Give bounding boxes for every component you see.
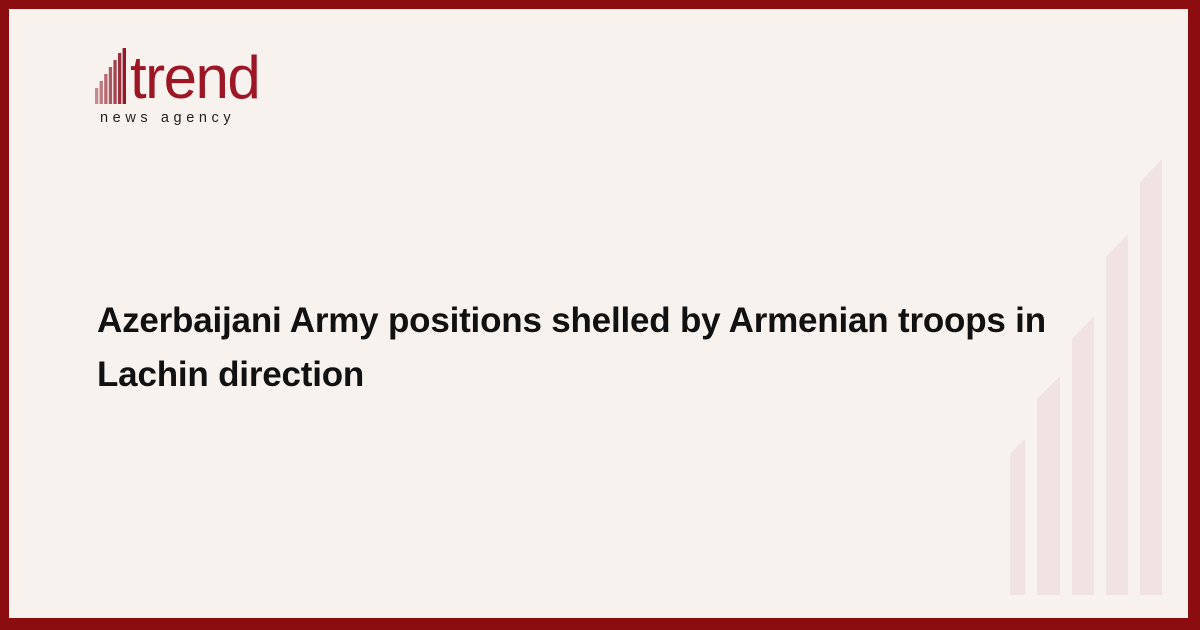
share-card: trend news agency Azerbaijani Army posit… <box>0 0 1200 630</box>
brand-logo[interactable]: trend news agency <box>95 44 355 144</box>
brand-wordmark: trend <box>130 50 259 106</box>
ascending-bars-icon <box>95 48 129 104</box>
logo-mark-row: trend <box>95 44 355 104</box>
article-headline: Azerbaijani Army positions shelled by Ar… <box>97 294 1097 402</box>
brand-tagline: news agency <box>100 110 355 126</box>
card-canvas: trend news agency Azerbaijani Army posit… <box>9 9 1188 618</box>
